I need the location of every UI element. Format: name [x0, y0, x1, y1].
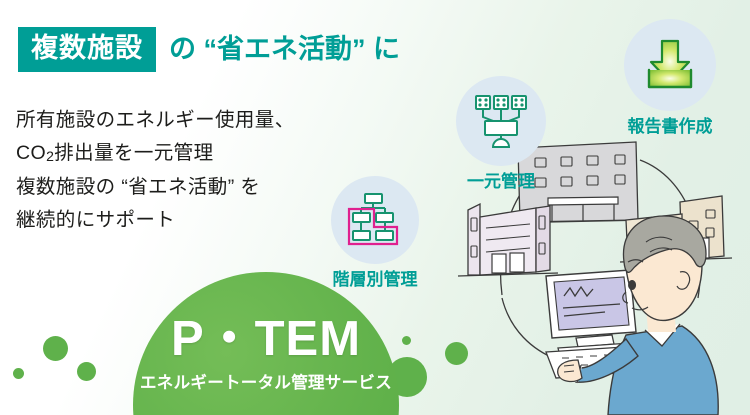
hierarchy-tree-icon: [345, 191, 405, 249]
feature-hierarchy-label: 階層別管理: [331, 271, 419, 288]
feature-report-label: 報告書作成: [624, 118, 716, 135]
feature-central-label: 一元管理: [456, 173, 546, 190]
headline-rest-text: の “省エネ活動” に: [169, 36, 400, 63]
feature-report-circle: [624, 19, 716, 111]
logo-subtitle: エネルギートータル管理サービス: [133, 375, 399, 392]
centralized-network-icon: [471, 91, 531, 151]
decorative-dot: [402, 336, 411, 345]
feature-hierarchy-circle: [331, 176, 419, 264]
co2-suffix: 排出量を一元管理: [54, 142, 213, 164]
logo-name: P・TEM: [133, 315, 399, 364]
feature-report[interactable]: 報告書作成: [624, 19, 716, 135]
body-line-3: 複数施設の “省エネ活動” を: [16, 171, 295, 204]
co2-subscript: 2: [46, 148, 54, 164]
promo-banner: 複数施設 の “省エネ活動” に 所有施設のエネルギー使用量、 CO2排出量を一…: [0, 0, 750, 415]
download-arrow-icon: [641, 37, 699, 93]
feature-central-circle: [456, 76, 546, 166]
decorative-dot: [43, 336, 68, 361]
feature-central[interactable]: 一元管理: [456, 76, 546, 190]
body-line-2: CO2排出量を一元管理: [16, 137, 295, 171]
headline: 複数施設 の “省エネ活動” に: [18, 27, 400, 72]
feature-hierarchy[interactable]: 階層別管理: [331, 176, 419, 288]
body-line-4: 継続的にサポート: [16, 204, 295, 237]
decorative-dot: [13, 368, 24, 379]
headline-tag-badge: 複数施設: [18, 27, 156, 72]
co2-prefix: CO: [16, 142, 46, 164]
decorative-dot: [77, 362, 96, 381]
body-line-1: 所有施設のエネルギー使用量、: [16, 104, 295, 137]
body-copy: 所有施設のエネルギー使用量、 CO2排出量を一元管理 複数施設の “省エネ活動”…: [16, 104, 295, 237]
building-lavender-left: [458, 204, 558, 276]
